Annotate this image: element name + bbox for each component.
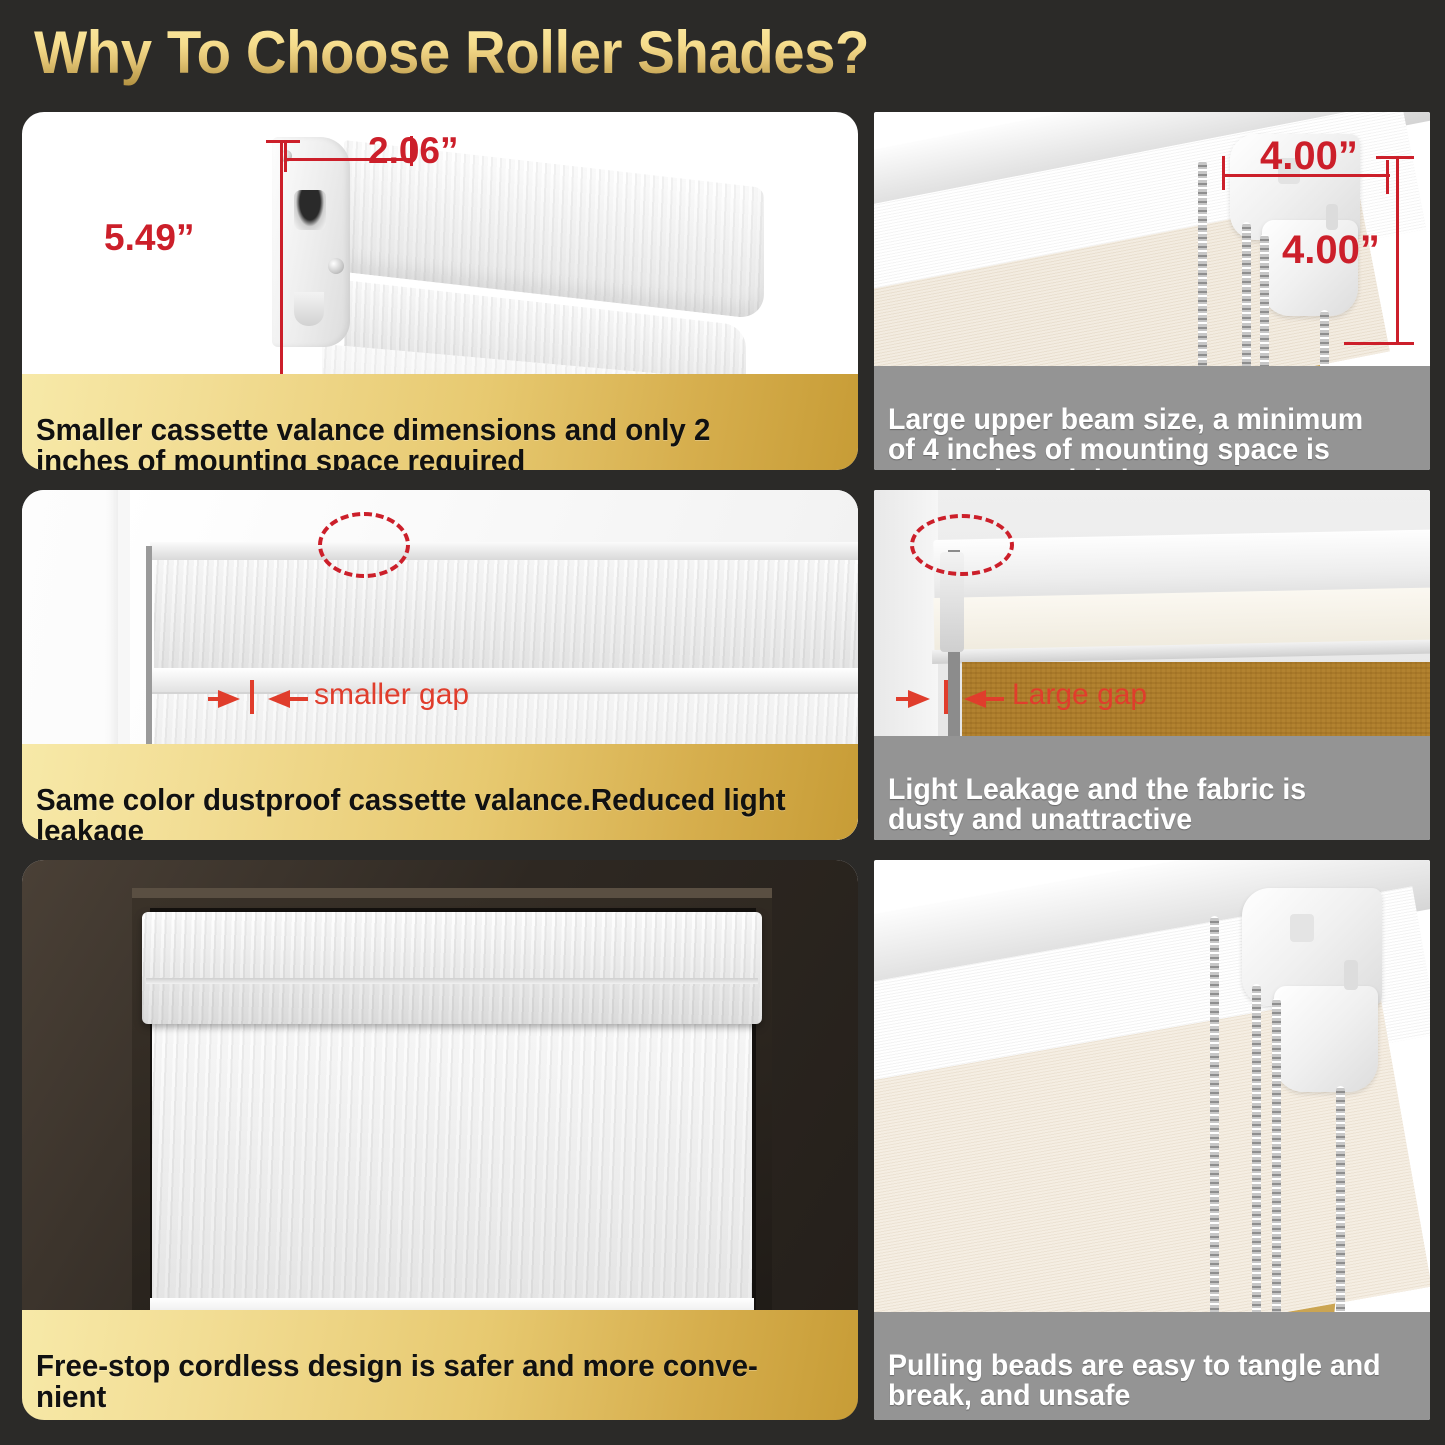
- cassette-valance: [142, 912, 762, 1024]
- gap-arrow-left-icon: [268, 690, 290, 708]
- width-dimension-label: 2.06”: [368, 130, 459, 172]
- valance-seam: [146, 978, 758, 984]
- panel-4-caption-text: Light Leakage and the fabric is dusty an…: [888, 775, 1390, 836]
- panel-1-caption: Smaller cassette valance dimensions and …: [22, 374, 858, 470]
- panel-2-caption: Large upper beam size, a minimum of 4 in…: [874, 366, 1430, 470]
- page-title: Why To Choose Roller Shades?: [34, 18, 869, 87]
- shade-fabric-upper: [154, 560, 858, 668]
- mounting-bracket-lower: [1274, 986, 1378, 1092]
- bead-chain: [1210, 916, 1219, 1336]
- beam-width-tick-right: [1386, 160, 1389, 194]
- bracket-slot-icon: [1326, 204, 1338, 230]
- gap-arrow-left-icon: [964, 690, 986, 708]
- gap-arrow-stem: [896, 697, 912, 701]
- panel-4-caption: Light Leakage and the fabric is dusty an…: [874, 736, 1430, 840]
- beam-height-label: 4.00”: [1282, 228, 1380, 273]
- mid-rail: [150, 668, 858, 694]
- screw-icon: [328, 258, 344, 274]
- gap-arrow-stem: [208, 697, 222, 701]
- panel-pulling-beads: Pulling beads are easy to tangle and bre…: [874, 860, 1430, 1420]
- large-gap-label: Large gap: [1012, 678, 1147, 712]
- infographic-page: Why To Choose Roller Shades? 2.06” 5.49”…: [0, 0, 1445, 1445]
- panel-dustproof-valance: smaller gap Same color dustproof cassett…: [22, 490, 858, 840]
- beam-width-tick-left: [1222, 156, 1225, 190]
- panel-3-caption-text: Same color dustproof cassette valance.Re…: [36, 784, 804, 840]
- panel-6-caption: Pulling beads are easy to tangle and bre…: [874, 1312, 1430, 1420]
- roller-shade-fabric: [152, 1022, 752, 1312]
- highlight-circle-icon: [318, 512, 410, 578]
- cassette-headrail: [150, 542, 858, 560]
- panel-5-caption-text: Free-stop cordless design is safer and m…: [36, 1350, 804, 1413]
- beam-width-label: 4.00”: [1260, 134, 1358, 179]
- highlight-circle-icon: [910, 514, 1014, 576]
- height-dimension-tick-top: [266, 140, 300, 143]
- mounting-pin-hole-icon: [294, 190, 326, 230]
- panel-1-caption-text: Smaller cassette valance dimensions and …: [36, 414, 804, 470]
- beam-height-tick-bottom: [1344, 342, 1414, 345]
- gap-marker: [944, 680, 948, 714]
- gap-arrow-stem: [986, 697, 1004, 701]
- panel-smaller-cassette: 2.06” 5.49” Smaller cassette valance dim…: [22, 112, 858, 470]
- release-knob-icon: [294, 292, 324, 326]
- panel-6-caption-text: Pulling beads are easy to tangle and bre…: [888, 1351, 1390, 1412]
- gap-arrow-stem: [290, 697, 308, 701]
- panel-3-caption: Same color dustproof cassette valance.Re…: [22, 744, 858, 840]
- panel-cordless-design: Free-stop cordless design is safer and m…: [22, 860, 858, 1420]
- panel-light-leakage: Large gap Light Leakage and the fabric i…: [874, 490, 1430, 840]
- smaller-gap-label: smaller gap: [314, 678, 469, 712]
- panel-5-caption: Free-stop cordless design is safer and m…: [22, 1310, 858, 1420]
- bead-chain: [1336, 1086, 1345, 1318]
- bead-chain: [1252, 984, 1261, 1334]
- height-dimension-label: 5.49”: [104, 217, 195, 259]
- width-dimension-tick-left: [284, 142, 287, 172]
- bracket-slot-icon: [1344, 960, 1358, 990]
- beam-height-tick-top: [1376, 156, 1414, 159]
- gap-marker: [250, 680, 254, 714]
- panel-2-caption-text: Large upper beam size, a minimum of 4 in…: [888, 405, 1390, 470]
- beam-height-dimension-line: [1396, 156, 1399, 344]
- panel-large-beam: 4.00” 4.00” Large upper beam size, a min…: [874, 112, 1430, 470]
- bracket-slot-icon: [1290, 914, 1314, 942]
- bead-chain: [1272, 998, 1281, 1332]
